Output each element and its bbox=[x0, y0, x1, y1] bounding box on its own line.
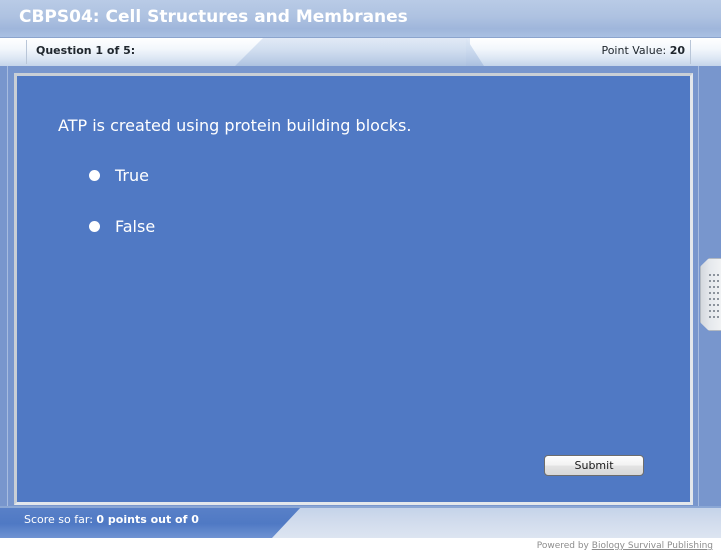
frame-left-rule bbox=[7, 66, 8, 506]
score-bar: Score so far: 0 points out of 0 bbox=[0, 506, 721, 538]
score-value: 0 points out of 0 bbox=[96, 513, 198, 526]
answer-options: True False bbox=[89, 164, 155, 266]
point-value-number: 20 bbox=[670, 44, 685, 57]
option-true[interactable]: True bbox=[89, 164, 155, 186]
page-title: CBPS04: Cell Structures and Membranes bbox=[19, 7, 408, 27]
question-counter: Question 1 of 5: bbox=[36, 44, 135, 57]
score-label: Score so far: bbox=[24, 513, 93, 526]
radio-icon[interactable] bbox=[89, 170, 100, 181]
resize-handle[interactable] bbox=[700, 258, 721, 331]
question-text: ATP is created using protein building bl… bbox=[58, 116, 411, 135]
header-diagonal-band-left bbox=[235, 38, 470, 66]
option-label: True bbox=[115, 166, 149, 185]
question-panel: ATP is created using protein building bl… bbox=[14, 73, 693, 505]
submit-button[interactable]: Submit bbox=[544, 455, 644, 476]
frame-right-rule bbox=[698, 66, 699, 506]
option-false[interactable]: False bbox=[89, 215, 155, 237]
score-bar-top-rule bbox=[0, 506, 721, 508]
radio-icon[interactable] bbox=[89, 221, 100, 232]
powered-by: Powered by Biology Survival Publishing bbox=[537, 541, 713, 551]
quiz-app: CBPS04: Cell Structures and Membranes Qu… bbox=[0, 0, 721, 555]
question-header-bar: Question 1 of 5: Point Value: 20 bbox=[0, 38, 721, 66]
publisher-link[interactable]: Biology Survival Publishing bbox=[592, 541, 713, 551]
grip-dots-icon bbox=[709, 274, 720, 318]
option-label: False bbox=[115, 217, 155, 236]
header-right-divider bbox=[690, 40, 691, 64]
point-value: Point Value: 20 bbox=[601, 44, 685, 57]
powered-by-label: Powered by bbox=[537, 541, 589, 551]
score-text: Score so far: 0 points out of 0 bbox=[24, 513, 199, 526]
header-left-divider bbox=[26, 40, 27, 64]
title-bar: CBPS04: Cell Structures and Membranes bbox=[0, 0, 721, 38]
point-value-label: Point Value: bbox=[601, 44, 666, 57]
